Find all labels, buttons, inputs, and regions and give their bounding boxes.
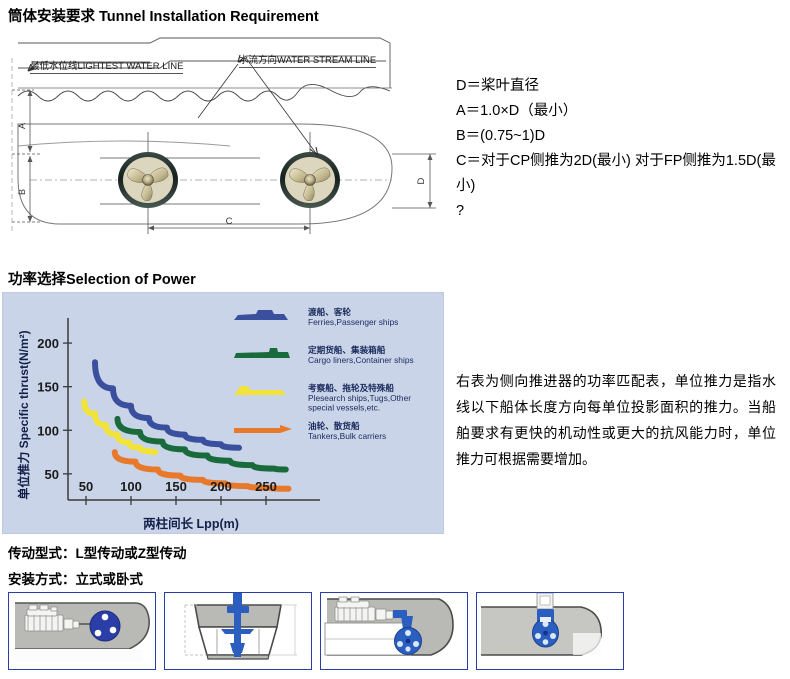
thruster-unit-1 xyxy=(90,611,120,641)
label-water-stream-line-text: 水流方向WATER STREAM LINE xyxy=(239,52,376,68)
svg-text:200: 200 xyxy=(210,479,232,494)
svg-text:special vessels,etc.: special vessels,etc. xyxy=(308,403,380,413)
svg-text:50: 50 xyxy=(45,467,59,482)
drive-type-line: 传动型式：L型传动或Z型传动 xyxy=(8,542,187,562)
dimension-label-b: B xyxy=(17,189,27,195)
panel-vertical-mount-thruster xyxy=(476,592,624,670)
section-title-tunnel-installation: 筒体安装要求 Tunnel Installation Requirement xyxy=(8,5,319,26)
waterline-curve xyxy=(18,84,392,101)
panel-vertical-shaft-section xyxy=(164,592,312,670)
dimension-d xyxy=(392,154,436,208)
svg-text:Ferries,Passenger ships: Ferries,Passenger ships xyxy=(308,317,398,327)
label-lightest-water-line-text: 最低水位线LIGHTEST WATER LINE xyxy=(30,58,183,74)
dimension-label-c: C xyxy=(226,216,233,227)
power-description-paragraph: 右表为侧向推进器的功率匹配表，单位推力是指水线以下船体长度方向每单位投影面积的推… xyxy=(456,368,776,472)
svg-text:200: 200 xyxy=(37,336,59,351)
svg-text:Cargo liners,Container ships: Cargo liners,Container ships xyxy=(308,355,414,365)
svg-text:150: 150 xyxy=(165,479,187,494)
svg-text:单位推力 Specific thrust(N/m²): 单位推力 Specific thrust(N/m²) xyxy=(16,330,31,499)
svg-text:Tankers,Bulk carriers: Tankers,Bulk carriers xyxy=(308,431,386,441)
mounting-type-line: 安装方式：立式或卧式 xyxy=(8,568,143,588)
svg-text:两柱间长 Lpp(m): 两柱间长 Lpp(m) xyxy=(143,516,239,531)
dimension-a xyxy=(12,90,34,152)
svg-text:50: 50 xyxy=(79,479,93,494)
section-title-selection-of-power: 功率选择Selection of Power xyxy=(8,268,196,289)
dimension-label-d: D xyxy=(416,177,427,184)
specific-thrust-chart: 渡船、客轮Ferries,Passenger ships定期货船、集装箱船Car… xyxy=(2,292,444,534)
svg-text:100: 100 xyxy=(37,423,59,438)
thruster-unit-3 xyxy=(395,628,422,655)
propeller-unit-1 xyxy=(118,132,178,208)
formula-line-c: C＝对于CP侧推为2D(最小) 对于FP侧推为1.5D(最小) xyxy=(456,149,786,199)
formula-line-b: B＝(0.75~1)D xyxy=(456,124,786,149)
svg-text:100: 100 xyxy=(120,479,142,494)
panel-horizontal-engine-thruster xyxy=(8,592,156,670)
formula-line-question: ? xyxy=(456,199,786,224)
document-page: 筒体安装要求 Tunnel Installation Requirement xyxy=(0,0,790,679)
dimension-b xyxy=(12,154,40,222)
propeller-unit-2 xyxy=(280,132,340,208)
panel-l-drive-engine-thruster xyxy=(320,592,468,670)
dimension-label-a: A xyxy=(17,123,27,129)
leader-water-stream-line xyxy=(198,55,368,156)
formula-line-d: D＝桨叶直径 xyxy=(456,74,786,99)
svg-text:150: 150 xyxy=(37,380,59,395)
formula-definitions: D＝桨叶直径 A＝1.0×D（最小） B＝(0.75~1)D C＝对于CP侧推为… xyxy=(456,74,786,224)
formula-line-a: A＝1.0×D（最小） xyxy=(456,99,786,124)
installation-photo-strip xyxy=(8,592,782,672)
svg-text:Plesearch ships,Tugs,Other: Plesearch ships,Tugs,Other xyxy=(308,393,411,403)
svg-text:250: 250 xyxy=(255,479,277,494)
